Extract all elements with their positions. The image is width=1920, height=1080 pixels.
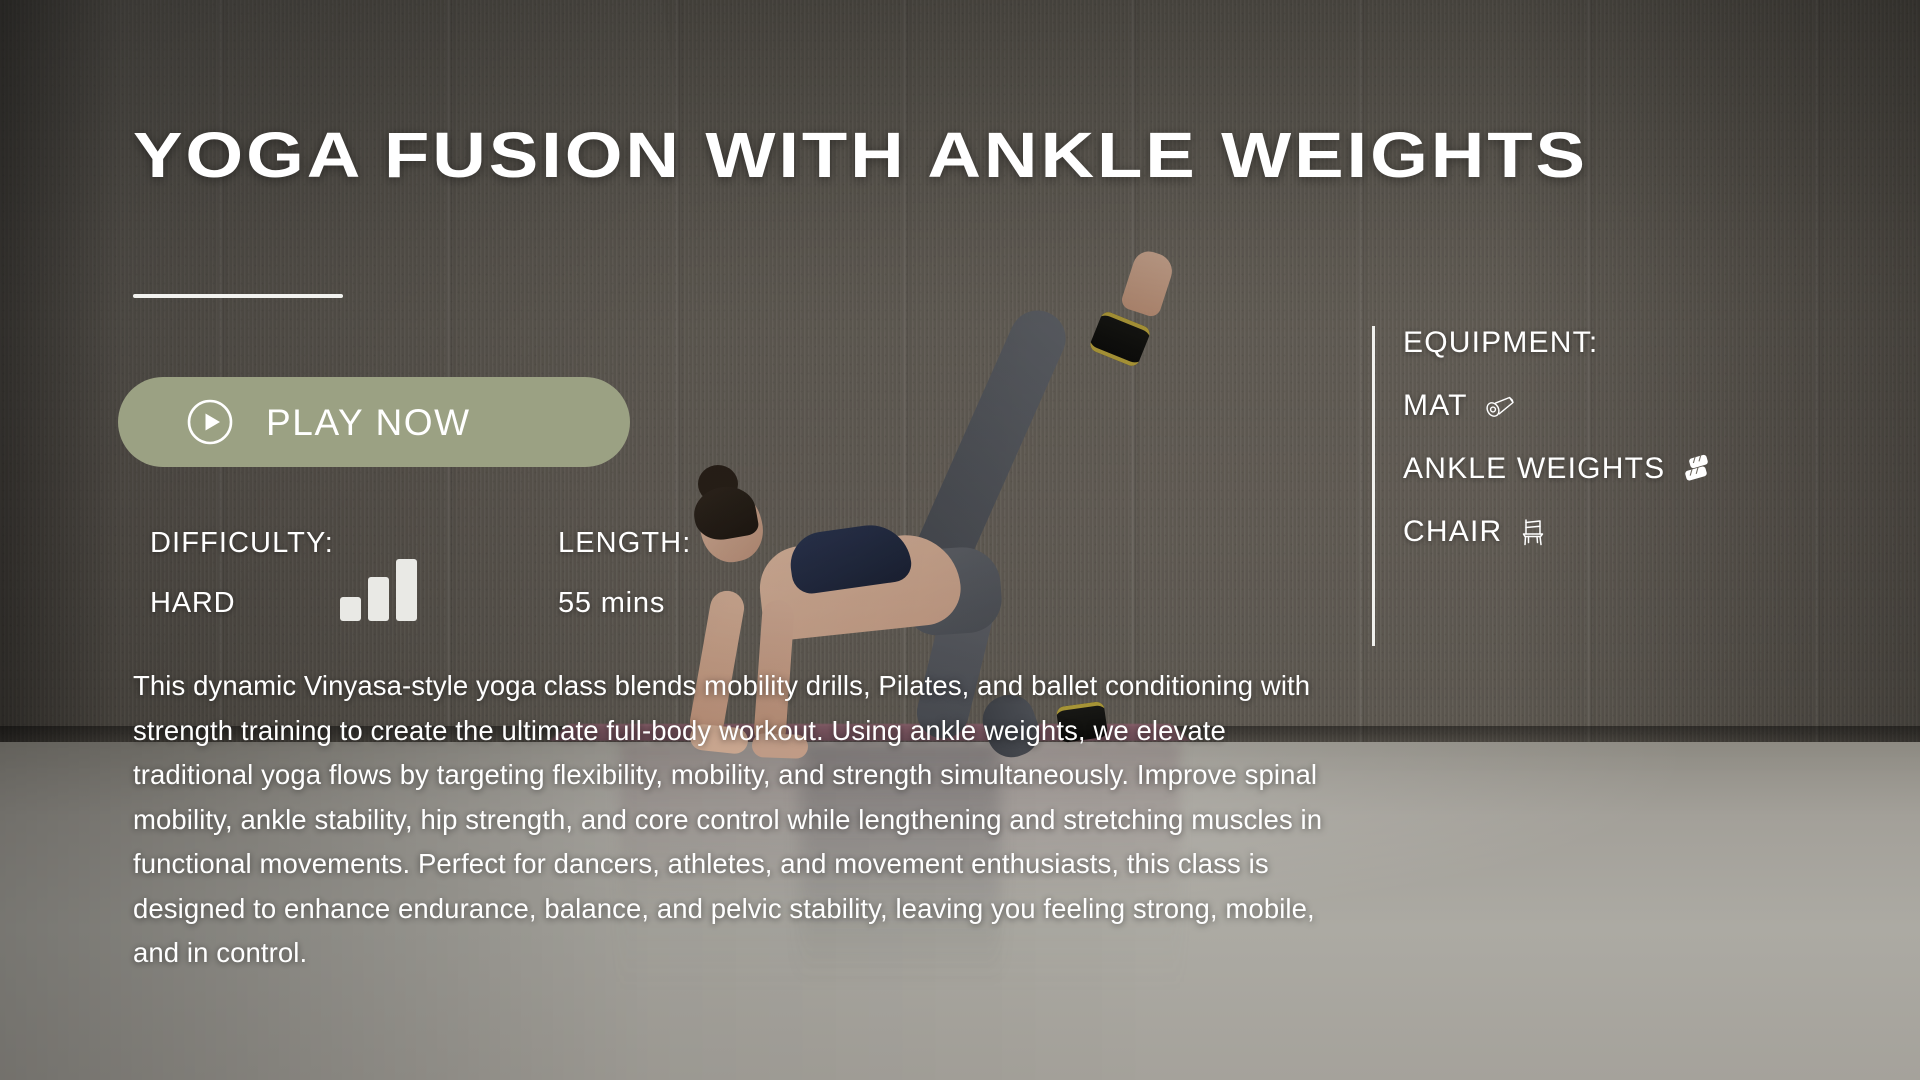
chair-icon	[1516, 515, 1550, 549]
difficulty-bar-1	[340, 597, 361, 621]
difficulty-bar-3	[396, 559, 417, 621]
equipment-item-chair: CHAIR	[1403, 515, 1713, 549]
title-divider	[133, 294, 343, 298]
length-block: LENGTH: 55 mins	[558, 527, 691, 620]
rolled-mat-icon	[1482, 389, 1516, 423]
signal-bars-icon	[340, 559, 417, 621]
difficulty-bar-2	[368, 577, 389, 621]
play-now-button[interactable]: PLAY NOW	[118, 377, 630, 467]
length-label: LENGTH:	[558, 527, 691, 560]
equipment-item-ankle-weights: ANKLE WEIGHTS	[1403, 452, 1713, 486]
equipment-label-ankle-weights: ANKLE WEIGHTS	[1403, 452, 1665, 486]
play-circle-icon	[186, 398, 234, 446]
equipment-item-mat: MAT	[1403, 389, 1713, 423]
class-description: This dynamic Vinyasa-style yoga class bl…	[133, 664, 1343, 976]
length-value: 55 mins	[558, 587, 691, 620]
class-detail-overlay: YOGA FUSION WITH ANKLE WEIGHTS PLAY NOW …	[0, 0, 1920, 1080]
difficulty-block: DIFFICULTY: HARD	[150, 527, 334, 620]
difficulty-label: DIFFICULTY:	[150, 527, 334, 560]
equipment-label-chair: CHAIR	[1403, 515, 1502, 549]
equipment-label-mat: MAT	[1403, 389, 1468, 423]
play-now-label: PLAY NOW	[266, 404, 471, 441]
ankle-weights-icon	[1679, 452, 1713, 486]
page-title: YOGA FUSION WITH ANKLE WEIGHTS	[133, 118, 1588, 192]
difficulty-value: HARD	[150, 587, 334, 620]
equipment-title: EQUIPMENT:	[1403, 326, 1713, 360]
equipment-panel: EQUIPMENT: MAT ANKLE WEIGHTS	[1372, 326, 1713, 646]
